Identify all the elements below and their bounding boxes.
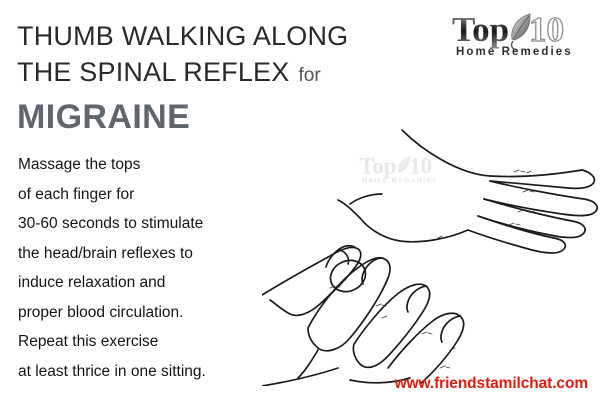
logo-word-top: Top — [452, 10, 509, 49]
infographic-canvas: THUMB WALKING ALONG THE SPINAL REFLEXfor… — [0, 0, 600, 400]
instruction-line: proper blood circulation. — [18, 298, 308, 328]
logo-tagline: Home Remedies — [456, 46, 573, 58]
leaf-icon — [512, 14, 531, 50]
headline-connector-word: for — [298, 65, 320, 86]
source-url[interactable]: www.friendstamilchat.com — [395, 375, 588, 393]
instruction-line: at least thrice in one sitting. — [18, 357, 308, 387]
headline-line-1-text: THUMB WALKING ALONG — [17, 21, 348, 51]
headline-block: THUMB WALKING ALONG THE SPINAL REFLEXfor… — [17, 18, 417, 138]
headline-line-2-text: THE SPINAL REFLEX — [17, 57, 289, 87]
instruction-line: Massage the tops — [18, 150, 308, 180]
instruction-line: Repeat this exercise — [18, 327, 308, 357]
instructions-text-block: Massage the tops of each finger for 30-6… — [18, 150, 308, 386]
instruction-line: of each finger for — [18, 180, 308, 210]
hands-illustration — [262, 128, 600, 386]
brand-logo: Top 10 Home Remedies — [450, 8, 586, 60]
headline-line-2: THE SPINAL REFLEXfor — [17, 54, 417, 94]
logo-number-ten: 10 — [529, 10, 564, 49]
instruction-line: 30-60 seconds to stimulate — [18, 209, 308, 239]
instruction-line: induce relaxation and — [18, 268, 308, 298]
instruction-line: the head/brain reflexes to — [18, 239, 308, 269]
headline-line-1: THUMB WALKING ALONG — [17, 18, 417, 54]
